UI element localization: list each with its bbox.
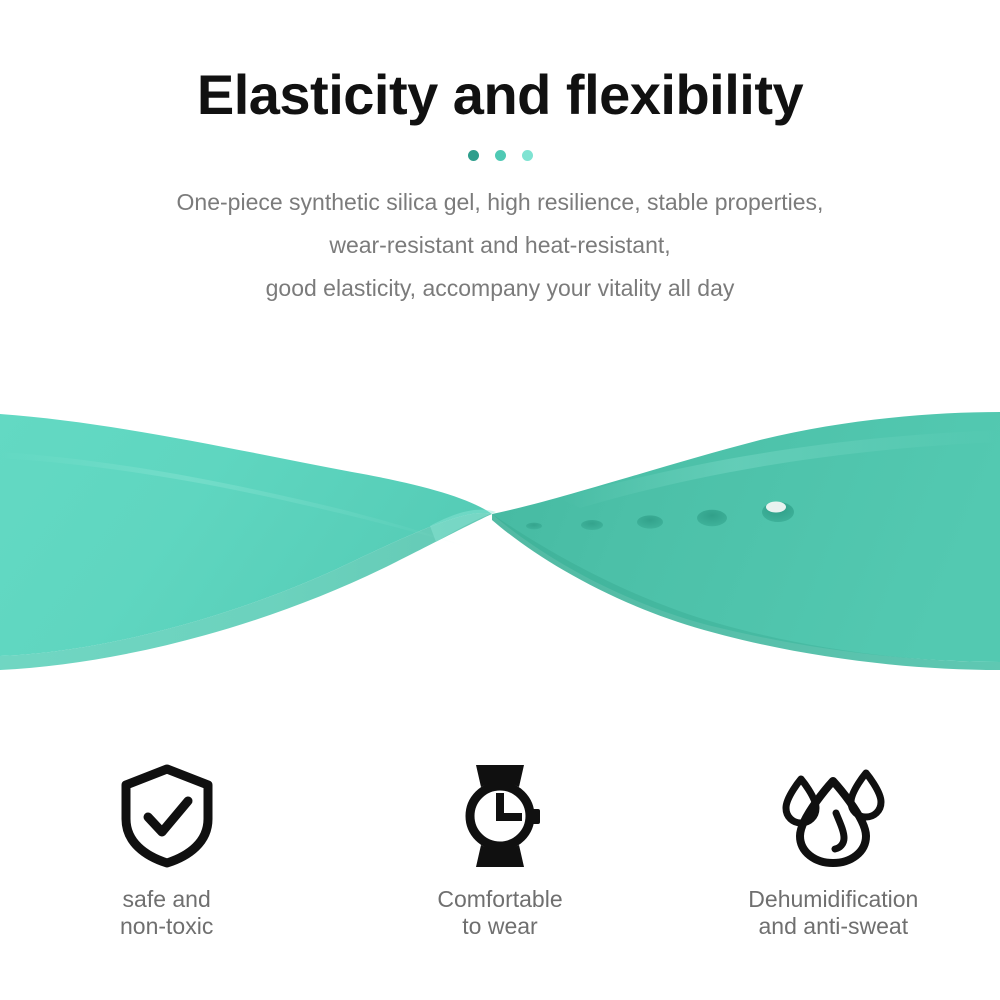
product-feature-page: Elasticity and flexibility One-piece syn… bbox=[0, 0, 1000, 1000]
caption-line-2: and anti-sweat bbox=[748, 913, 918, 940]
feature-caption-comfortable-to-wear: Comfortable to wear bbox=[437, 886, 562, 940]
check-mark bbox=[148, 801, 188, 832]
wristwatch-icon bbox=[452, 760, 548, 872]
feature-caption-safe-non-toxic: safe and non-toxic bbox=[120, 886, 213, 940]
three-dot-divider bbox=[0, 149, 1000, 161]
shield-outline bbox=[126, 769, 208, 863]
product-photo-twisted-band bbox=[0, 380, 1000, 680]
right-strap-body bbox=[492, 412, 1000, 662]
feature-caption-dehumidification: Dehumidification and anti-sweat bbox=[748, 886, 918, 940]
adjustment-hole-4 bbox=[697, 510, 727, 526]
divider-dot-2 bbox=[495, 150, 506, 161]
caption-line-1: Comfortable bbox=[437, 886, 562, 913]
droplet-small-left bbox=[786, 779, 816, 823]
adjustment-hole-5-highlight bbox=[766, 502, 786, 513]
feature-row: safe and non-toxic Comfortable to wear bbox=[0, 760, 1000, 940]
caption-line-1: safe and bbox=[120, 886, 213, 913]
water-droplets-icon bbox=[778, 760, 888, 872]
caption-line-1: Dehumidification bbox=[748, 886, 918, 913]
adjustment-hole-3 bbox=[637, 515, 663, 528]
description-line-2: wear-resistant and heat-resistant, bbox=[0, 224, 1000, 267]
divider-dot-3 bbox=[522, 150, 533, 161]
adjustment-hole-2 bbox=[581, 520, 603, 530]
caption-line-2: to wear bbox=[437, 913, 562, 940]
adjustment-hole-1 bbox=[526, 523, 542, 530]
droplet-inner-highlight bbox=[835, 813, 844, 849]
divider-dot-1 bbox=[468, 150, 479, 161]
description-paragraph: One-piece synthetic silica gel, high res… bbox=[0, 181, 1000, 310]
feature-safe-non-toxic: safe and non-toxic bbox=[0, 760, 333, 940]
description-line-1: One-piece synthetic silica gel, high res… bbox=[0, 181, 1000, 224]
feature-dehumidification: Dehumidification and anti-sweat bbox=[667, 760, 1000, 940]
page-title: Elasticity and flexibility bbox=[0, 0, 1000, 128]
shield-check-icon bbox=[119, 760, 215, 872]
description-line-3: good elasticity, accompany your vitality… bbox=[0, 267, 1000, 310]
watch-hands bbox=[500, 797, 518, 817]
caption-line-2: non-toxic bbox=[120, 913, 213, 940]
feature-comfortable-to-wear: Comfortable to wear bbox=[333, 760, 666, 940]
header-block: Elasticity and flexibility One-piece syn… bbox=[0, 0, 1000, 310]
watch-crown bbox=[531, 809, 540, 824]
